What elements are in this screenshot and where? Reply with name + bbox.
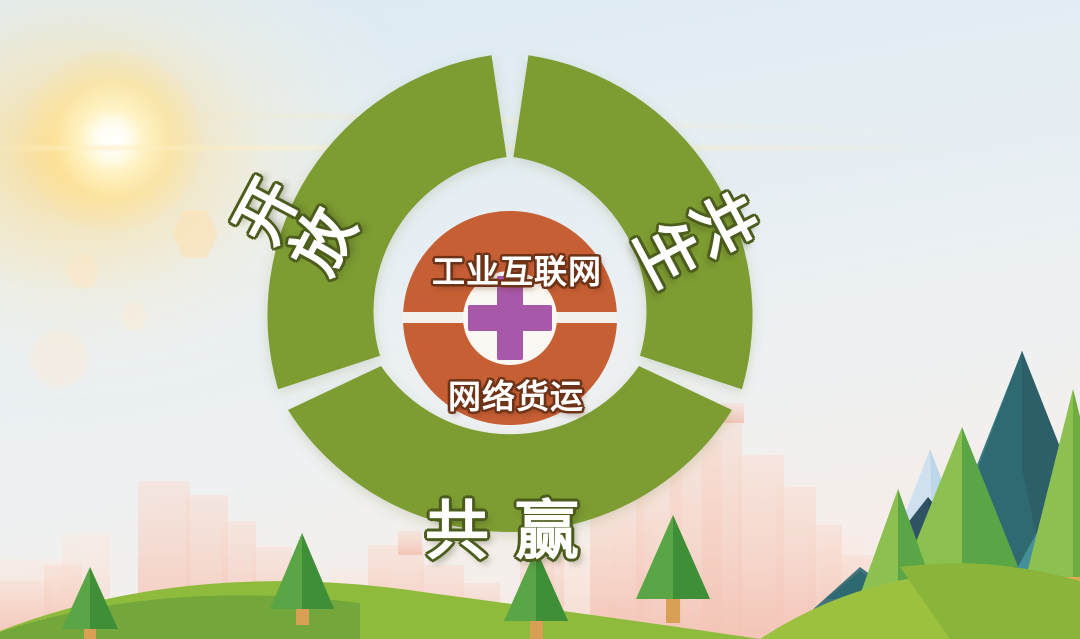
poster-canvas: 开放 共生 共赢 工业互联网 网络货运 [0,0,1080,639]
sun-icon [22,50,202,230]
plus-icon[interactable] [460,268,560,368]
